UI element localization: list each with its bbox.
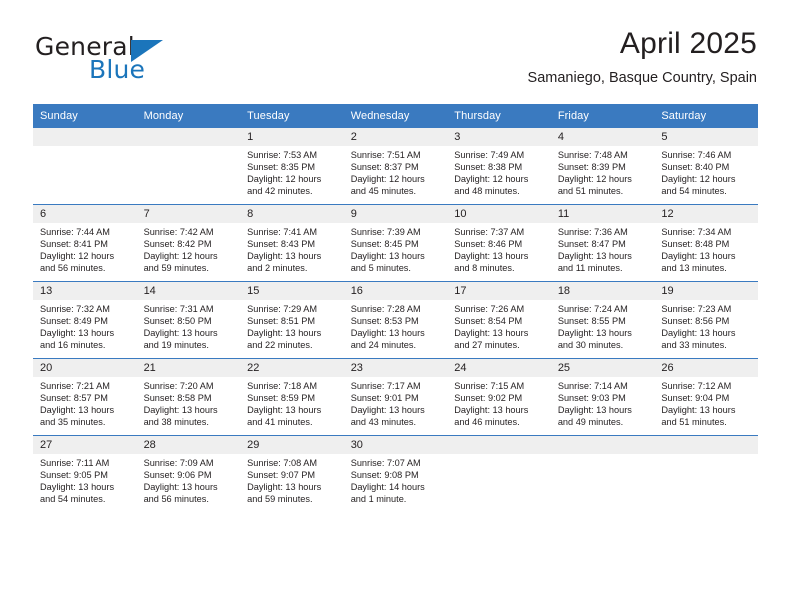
- day-cell-content: 23Sunrise: 7:17 AMSunset: 9:01 PMDayligh…: [344, 359, 448, 435]
- day-cell-content: 5Sunrise: 7:46 AMSunset: 8:40 PMDaylight…: [654, 128, 758, 204]
- sunrise-text: Sunrise: 7:36 AM: [558, 226, 650, 238]
- sunrise-text: Sunrise: 7:08 AM: [247, 457, 339, 469]
- weekday-header-saturday: Saturday: [654, 104, 758, 128]
- sunset-text: Sunset: 9:06 PM: [144, 469, 236, 481]
- sunset-text: Sunset: 8:55 PM: [558, 315, 650, 327]
- sunrise-text: Sunrise: 7:31 AM: [144, 303, 236, 315]
- day-cell-content: 21Sunrise: 7:20 AMSunset: 8:58 PMDayligh…: [137, 359, 241, 435]
- day-cell-content: 15Sunrise: 7:29 AMSunset: 8:51 PMDayligh…: [240, 282, 344, 358]
- day-number: 24: [447, 359, 551, 377]
- day-details: Sunrise: 7:11 AMSunset: 9:05 PMDaylight:…: [33, 454, 137, 505]
- sunset-text: Sunset: 9:07 PM: [247, 469, 339, 481]
- calendar-day-cell[interactable]: 21Sunrise: 7:20 AMSunset: 8:58 PMDayligh…: [137, 359, 241, 436]
- day-cell-content: 27Sunrise: 7:11 AMSunset: 9:05 PMDayligh…: [33, 436, 137, 512]
- sunrise-text: Sunrise: 7:49 AM: [454, 149, 546, 161]
- sunset-text: Sunset: 9:05 PM: [40, 469, 132, 481]
- calendar-body: 1Sunrise: 7:53 AMSunset: 8:35 PMDaylight…: [33, 128, 758, 513]
- sunrise-text: Sunrise: 7:18 AM: [247, 380, 339, 392]
- day-details: Sunrise: 7:17 AMSunset: 9:01 PMDaylight:…: [344, 377, 448, 428]
- daylight-text-line1: Daylight: 12 hours: [661, 173, 753, 185]
- day-number: 1: [240, 128, 344, 146]
- calendar-day-cell[interactable]: 7Sunrise: 7:42 AMSunset: 8:42 PMDaylight…: [137, 205, 241, 282]
- daylight-text-line1: Daylight: 12 hours: [247, 173, 339, 185]
- daylight-text-line1: Daylight: 13 hours: [247, 327, 339, 339]
- calendar-empty-cell: [137, 128, 241, 205]
- sunrise-text: Sunrise: 7:29 AM: [247, 303, 339, 315]
- daylight-text-line1: Daylight: 13 hours: [558, 327, 650, 339]
- daylight-text-line1: Daylight: 13 hours: [247, 250, 339, 262]
- calendar-day-cell[interactable]: 5Sunrise: 7:46 AMSunset: 8:40 PMDaylight…: [654, 128, 758, 205]
- day-details: Sunrise: 7:32 AMSunset: 8:49 PMDaylight:…: [33, 300, 137, 351]
- sunset-text: Sunset: 8:45 PM: [351, 238, 443, 250]
- sunrise-text: Sunrise: 7:07 AM: [351, 457, 443, 469]
- calendar-header-row: Sunday Monday Tuesday Wednesday Thursday…: [33, 104, 758, 128]
- calendar-day-cell[interactable]: 12Sunrise: 7:34 AMSunset: 8:48 PMDayligh…: [654, 205, 758, 282]
- day-cell-content: 12Sunrise: 7:34 AMSunset: 8:48 PMDayligh…: [654, 205, 758, 281]
- sunrise-text: Sunrise: 7:23 AM: [661, 303, 753, 315]
- daylight-text-line1: Daylight: 14 hours: [351, 481, 443, 493]
- sunset-text: Sunset: 8:47 PM: [558, 238, 650, 250]
- day-number: 27: [33, 436, 137, 454]
- sunrise-text: Sunrise: 7:42 AM: [144, 226, 236, 238]
- sunset-text: Sunset: 8:42 PM: [144, 238, 236, 250]
- day-cell-content: 30Sunrise: 7:07 AMSunset: 9:08 PMDayligh…: [344, 436, 448, 512]
- daylight-text-line2: and 24 minutes.: [351, 339, 443, 351]
- daylight-text-line2: and 51 minutes.: [558, 185, 650, 197]
- day-cell-content: 6Sunrise: 7:44 AMSunset: 8:41 PMDaylight…: [33, 205, 137, 281]
- calendar-day-cell[interactable]: 8Sunrise: 7:41 AMSunset: 8:43 PMDaylight…: [240, 205, 344, 282]
- daylight-text-line2: and 46 minutes.: [454, 416, 546, 428]
- day-number: 17: [447, 282, 551, 300]
- daylight-text-line1: Daylight: 13 hours: [247, 404, 339, 416]
- calendar-day-cell[interactable]: 13Sunrise: 7:32 AMSunset: 8:49 PMDayligh…: [33, 282, 137, 359]
- calendar-day-cell[interactable]: 3Sunrise: 7:49 AMSunset: 8:38 PMDaylight…: [447, 128, 551, 205]
- daylight-text-line2: and 56 minutes.: [144, 493, 236, 505]
- day-number: [137, 128, 241, 146]
- sunrise-text: Sunrise: 7:21 AM: [40, 380, 132, 392]
- day-details: Sunrise: 7:41 AMSunset: 8:43 PMDaylight:…: [240, 223, 344, 274]
- calendar-day-cell[interactable]: 26Sunrise: 7:12 AMSunset: 9:04 PMDayligh…: [654, 359, 758, 436]
- day-cell-content: 26Sunrise: 7:12 AMSunset: 9:04 PMDayligh…: [654, 359, 758, 435]
- calendar-empty-cell: [447, 436, 551, 513]
- day-cell-content: [137, 128, 241, 204]
- day-cell-content: 17Sunrise: 7:26 AMSunset: 8:54 PMDayligh…: [447, 282, 551, 358]
- day-number: 5: [654, 128, 758, 146]
- calendar-empty-cell: [33, 128, 137, 205]
- day-cell-content: 16Sunrise: 7:28 AMSunset: 8:53 PMDayligh…: [344, 282, 448, 358]
- day-details: Sunrise: 7:09 AMSunset: 9:06 PMDaylight:…: [137, 454, 241, 505]
- daylight-text-line2: and 54 minutes.: [661, 185, 753, 197]
- daylight-text-line1: Daylight: 13 hours: [661, 250, 753, 262]
- daylight-text-line2: and 43 minutes.: [351, 416, 443, 428]
- day-details: Sunrise: 7:29 AMSunset: 8:51 PMDaylight:…: [240, 300, 344, 351]
- calendar-day-cell[interactable]: 30Sunrise: 7:07 AMSunset: 9:08 PMDayligh…: [344, 436, 448, 513]
- day-number: 20: [33, 359, 137, 377]
- sunrise-text: Sunrise: 7:20 AM: [144, 380, 236, 392]
- day-cell-content: 7Sunrise: 7:42 AMSunset: 8:42 PMDaylight…: [137, 205, 241, 281]
- calendar-day-cell[interactable]: 16Sunrise: 7:28 AMSunset: 8:53 PMDayligh…: [344, 282, 448, 359]
- weekday-header-friday: Friday: [551, 104, 655, 128]
- sunset-text: Sunset: 8:54 PM: [454, 315, 546, 327]
- sunset-text: Sunset: 8:48 PM: [661, 238, 753, 250]
- day-number: 22: [240, 359, 344, 377]
- weekday-header-tuesday: Tuesday: [240, 104, 344, 128]
- sunset-text: Sunset: 8:35 PM: [247, 161, 339, 173]
- day-cell-content: 10Sunrise: 7:37 AMSunset: 8:46 PMDayligh…: [447, 205, 551, 281]
- calendar-day-cell[interactable]: 20Sunrise: 7:21 AMSunset: 8:57 PMDayligh…: [33, 359, 137, 436]
- sunrise-text: Sunrise: 7:12 AM: [661, 380, 753, 392]
- day-details: Sunrise: 7:31 AMSunset: 8:50 PMDaylight:…: [137, 300, 241, 351]
- sunset-text: Sunset: 8:40 PM: [661, 161, 753, 173]
- day-number: [551, 436, 655, 454]
- sunrise-text: Sunrise: 7:24 AM: [558, 303, 650, 315]
- daylight-text-line1: Daylight: 13 hours: [144, 404, 236, 416]
- day-cell-content: 22Sunrise: 7:18 AMSunset: 8:59 PMDayligh…: [240, 359, 344, 435]
- sunrise-text: Sunrise: 7:14 AM: [558, 380, 650, 392]
- daylight-text-line2: and 38 minutes.: [144, 416, 236, 428]
- day-details: Sunrise: 7:46 AMSunset: 8:40 PMDaylight:…: [654, 146, 758, 197]
- sunset-text: Sunset: 9:08 PM: [351, 469, 443, 481]
- daylight-text-line2: and 33 minutes.: [661, 339, 753, 351]
- daylight-text-line2: and 45 minutes.: [351, 185, 443, 197]
- daylight-text-line1: Daylight: 13 hours: [351, 404, 443, 416]
- sunrise-text: Sunrise: 7:28 AM: [351, 303, 443, 315]
- sunrise-text: Sunrise: 7:53 AM: [247, 149, 339, 161]
- day-details: Sunrise: 7:34 AMSunset: 8:48 PMDaylight:…: [654, 223, 758, 274]
- day-cell-content: 4Sunrise: 7:48 AMSunset: 8:39 PMDaylight…: [551, 128, 655, 204]
- day-cell-content: 13Sunrise: 7:32 AMSunset: 8:49 PMDayligh…: [33, 282, 137, 358]
- calendar-day-cell[interactable]: 17Sunrise: 7:26 AMSunset: 8:54 PMDayligh…: [447, 282, 551, 359]
- calendar-week-row: 1Sunrise: 7:53 AMSunset: 8:35 PMDaylight…: [33, 128, 758, 205]
- day-number: 6: [33, 205, 137, 223]
- sunset-text: Sunset: 8:38 PM: [454, 161, 546, 173]
- daylight-text-line2: and 48 minutes.: [454, 185, 546, 197]
- daylight-text-line2: and 8 minutes.: [454, 262, 546, 274]
- calendar-day-cell[interactable]: 2Sunrise: 7:51 AMSunset: 8:37 PMDaylight…: [344, 128, 448, 205]
- day-cell-content: 25Sunrise: 7:14 AMSunset: 9:03 PMDayligh…: [551, 359, 655, 435]
- day-details: Sunrise: 7:18 AMSunset: 8:59 PMDaylight:…: [240, 377, 344, 428]
- sunset-text: Sunset: 9:04 PM: [661, 392, 753, 404]
- daylight-text-line1: Daylight: 13 hours: [454, 327, 546, 339]
- calendar-page: General Blue April 2025 Samaniego, Basqu…: [0, 0, 792, 612]
- sunset-text: Sunset: 8:57 PM: [40, 392, 132, 404]
- calendar-day-cell[interactable]: 9Sunrise: 7:39 AMSunset: 8:45 PMDaylight…: [344, 205, 448, 282]
- sunset-text: Sunset: 8:46 PM: [454, 238, 546, 250]
- sunrise-text: Sunrise: 7:37 AM: [454, 226, 546, 238]
- sunset-text: Sunset: 8:50 PM: [144, 315, 236, 327]
- daylight-text-line2: and 42 minutes.: [247, 185, 339, 197]
- day-details: Sunrise: 7:51 AMSunset: 8:37 PMDaylight:…: [344, 146, 448, 197]
- day-number: 28: [137, 436, 241, 454]
- sunset-text: Sunset: 9:03 PM: [558, 392, 650, 404]
- day-details: Sunrise: 7:44 AMSunset: 8:41 PMDaylight:…: [33, 223, 137, 274]
- day-cell-content: [447, 436, 551, 512]
- weekday-header-thursday: Thursday: [447, 104, 551, 128]
- sunset-text: Sunset: 9:01 PM: [351, 392, 443, 404]
- sunrise-text: Sunrise: 7:17 AM: [351, 380, 443, 392]
- calendar-day-cell[interactable]: 22Sunrise: 7:18 AMSunset: 8:59 PMDayligh…: [240, 359, 344, 436]
- sunset-text: Sunset: 8:41 PM: [40, 238, 132, 250]
- sunrise-text: Sunrise: 7:51 AM: [351, 149, 443, 161]
- daylight-text-line1: Daylight: 13 hours: [40, 404, 132, 416]
- page-title: April 2025: [528, 26, 757, 62]
- sunrise-text: Sunrise: 7:41 AM: [247, 226, 339, 238]
- daylight-text-line2: and 13 minutes.: [661, 262, 753, 274]
- day-number: 9: [344, 205, 448, 223]
- day-number: 15: [240, 282, 344, 300]
- day-cell-content: 20Sunrise: 7:21 AMSunset: 8:57 PMDayligh…: [33, 359, 137, 435]
- daylight-text-line2: and 22 minutes.: [247, 339, 339, 351]
- sunrise-text: Sunrise: 7:46 AM: [661, 149, 753, 161]
- day-details: Sunrise: 7:08 AMSunset: 9:07 PMDaylight:…: [240, 454, 344, 505]
- daylight-text-line1: Daylight: 13 hours: [40, 327, 132, 339]
- day-number: [33, 128, 137, 146]
- weekday-header-monday: Monday: [137, 104, 241, 128]
- calendar-day-cell[interactable]: 10Sunrise: 7:37 AMSunset: 8:46 PMDayligh…: [447, 205, 551, 282]
- calendar-day-cell[interactable]: 23Sunrise: 7:17 AMSunset: 9:01 PMDayligh…: [344, 359, 448, 436]
- day-cell-content: 3Sunrise: 7:49 AMSunset: 8:38 PMDaylight…: [447, 128, 551, 204]
- calendar-week-row: 13Sunrise: 7:32 AMSunset: 8:49 PMDayligh…: [33, 282, 758, 359]
- calendar-week-row: 27Sunrise: 7:11 AMSunset: 9:05 PMDayligh…: [33, 436, 758, 513]
- daylight-text-line1: Daylight: 12 hours: [351, 173, 443, 185]
- calendar-day-cell[interactable]: 27Sunrise: 7:11 AMSunset: 9:05 PMDayligh…: [33, 436, 137, 513]
- day-details: Sunrise: 7:20 AMSunset: 8:58 PMDaylight:…: [137, 377, 241, 428]
- day-number: 23: [344, 359, 448, 377]
- day-details: Sunrise: 7:15 AMSunset: 9:02 PMDaylight:…: [447, 377, 551, 428]
- daylight-text-line1: Daylight: 13 hours: [454, 250, 546, 262]
- calendar-week-row: 6Sunrise: 7:44 AMSunset: 8:41 PMDaylight…: [33, 205, 758, 282]
- calendar-day-cell[interactable]: 19Sunrise: 7:23 AMSunset: 8:56 PMDayligh…: [654, 282, 758, 359]
- calendar-day-cell[interactable]: 25Sunrise: 7:14 AMSunset: 9:03 PMDayligh…: [551, 359, 655, 436]
- day-details: Sunrise: 7:07 AMSunset: 9:08 PMDaylight:…: [344, 454, 448, 505]
- day-cell-content: 19Sunrise: 7:23 AMSunset: 8:56 PMDayligh…: [654, 282, 758, 358]
- daylight-text-line1: Daylight: 12 hours: [558, 173, 650, 185]
- daylight-text-line2: and 11 minutes.: [558, 262, 650, 274]
- day-number: [654, 436, 758, 454]
- day-number: 10: [447, 205, 551, 223]
- daylight-text-line1: Daylight: 13 hours: [558, 250, 650, 262]
- day-cell-content: 8Sunrise: 7:41 AMSunset: 8:43 PMDaylight…: [240, 205, 344, 281]
- day-details: Sunrise: 7:24 AMSunset: 8:55 PMDaylight:…: [551, 300, 655, 351]
- daylight-text-line2: and 35 minutes.: [40, 416, 132, 428]
- daylight-text-line2: and 2 minutes.: [247, 262, 339, 274]
- calendar-day-cell[interactable]: 6Sunrise: 7:44 AMSunset: 8:41 PMDaylight…: [33, 205, 137, 282]
- daylight-text-line2: and 16 minutes.: [40, 339, 132, 351]
- sunrise-text: Sunrise: 7:48 AM: [558, 149, 650, 161]
- day-details: Sunrise: 7:28 AMSunset: 8:53 PMDaylight:…: [344, 300, 448, 351]
- day-number: 25: [551, 359, 655, 377]
- daylight-text-line2: and 19 minutes.: [144, 339, 236, 351]
- logo-text-blue: Blue: [89, 55, 145, 84]
- day-number: 29: [240, 436, 344, 454]
- calendar-week-row: 20Sunrise: 7:21 AMSunset: 8:57 PMDayligh…: [33, 359, 758, 436]
- day-details: Sunrise: 7:37 AMSunset: 8:46 PMDaylight:…: [447, 223, 551, 274]
- sunset-text: Sunset: 8:59 PM: [247, 392, 339, 404]
- sunset-text: Sunset: 8:39 PM: [558, 161, 650, 173]
- day-details: Sunrise: 7:42 AMSunset: 8:42 PMDaylight:…: [137, 223, 241, 274]
- daylight-text-line2: and 1 minute.: [351, 493, 443, 505]
- daylight-text-line2: and 56 minutes.: [40, 262, 132, 274]
- day-number: 4: [551, 128, 655, 146]
- weekday-header-wednesday: Wednesday: [344, 104, 448, 128]
- daylight-text-line1: Daylight: 13 hours: [454, 404, 546, 416]
- daylight-text-line2: and 41 minutes.: [247, 416, 339, 428]
- sunrise-text: Sunrise: 7:32 AM: [40, 303, 132, 315]
- day-number: 21: [137, 359, 241, 377]
- day-cell-content: 11Sunrise: 7:36 AMSunset: 8:47 PMDayligh…: [551, 205, 655, 281]
- day-details: Sunrise: 7:53 AMSunset: 8:35 PMDaylight:…: [240, 146, 344, 197]
- daylight-text-line1: Daylight: 13 hours: [351, 250, 443, 262]
- daylight-text-line1: Daylight: 13 hours: [247, 481, 339, 493]
- day-cell-content: [654, 436, 758, 512]
- sunset-text: Sunset: 8:58 PM: [144, 392, 236, 404]
- day-cell-content: 2Sunrise: 7:51 AMSunset: 8:37 PMDaylight…: [344, 128, 448, 204]
- daylight-text-line1: Daylight: 13 hours: [40, 481, 132, 493]
- day-number: [447, 436, 551, 454]
- day-details: Sunrise: 7:26 AMSunset: 8:54 PMDaylight:…: [447, 300, 551, 351]
- sunrise-text: Sunrise: 7:44 AM: [40, 226, 132, 238]
- sunrise-text: Sunrise: 7:11 AM: [40, 457, 132, 469]
- daylight-text-line1: Daylight: 12 hours: [144, 250, 236, 262]
- day-cell-content: 9Sunrise: 7:39 AMSunset: 8:45 PMDaylight…: [344, 205, 448, 281]
- day-number: 8: [240, 205, 344, 223]
- generalblue-logo[interactable]: General Blue: [35, 32, 245, 90]
- day-number: 16: [344, 282, 448, 300]
- sunrise-text: Sunrise: 7:39 AM: [351, 226, 443, 238]
- calendar-grid: Sunday Monday Tuesday Wednesday Thursday…: [33, 104, 758, 512]
- calendar-day-cell[interactable]: 18Sunrise: 7:24 AMSunset: 8:55 PMDayligh…: [551, 282, 655, 359]
- sunset-text: Sunset: 8:56 PM: [661, 315, 753, 327]
- calendar-day-cell[interactable]: 24Sunrise: 7:15 AMSunset: 9:02 PMDayligh…: [447, 359, 551, 436]
- day-number: 2: [344, 128, 448, 146]
- daylight-text-line1: Daylight: 12 hours: [40, 250, 132, 262]
- daylight-text-line1: Daylight: 12 hours: [454, 173, 546, 185]
- sunset-text: Sunset: 8:53 PM: [351, 315, 443, 327]
- calendar-day-cell[interactable]: 28Sunrise: 7:09 AMSunset: 9:06 PMDayligh…: [137, 436, 241, 513]
- calendar-day-cell[interactable]: 15Sunrise: 7:29 AMSunset: 8:51 PMDayligh…: [240, 282, 344, 359]
- calendar-empty-cell: [551, 436, 655, 513]
- day-details: Sunrise: 7:49 AMSunset: 8:38 PMDaylight:…: [447, 146, 551, 197]
- daylight-text-line1: Daylight: 13 hours: [144, 327, 236, 339]
- daylight-text-line2: and 59 minutes.: [144, 262, 236, 274]
- day-details: Sunrise: 7:21 AMSunset: 8:57 PMDaylight:…: [33, 377, 137, 428]
- sunset-text: Sunset: 9:02 PM: [454, 392, 546, 404]
- day-number: 13: [33, 282, 137, 300]
- day-details: Sunrise: 7:14 AMSunset: 9:03 PMDaylight:…: [551, 377, 655, 428]
- daylight-text-line2: and 5 minutes.: [351, 262, 443, 274]
- day-details: Sunrise: 7:23 AMSunset: 8:56 PMDaylight:…: [654, 300, 758, 351]
- day-cell-content: 18Sunrise: 7:24 AMSunset: 8:55 PMDayligh…: [551, 282, 655, 358]
- daylight-text-line1: Daylight: 13 hours: [558, 404, 650, 416]
- day-cell-content: [33, 128, 137, 204]
- day-number: 7: [137, 205, 241, 223]
- day-cell-content: 1Sunrise: 7:53 AMSunset: 8:35 PMDaylight…: [240, 128, 344, 204]
- daylight-text-line2: and 51 minutes.: [661, 416, 753, 428]
- day-number: 14: [137, 282, 241, 300]
- day-number: 11: [551, 205, 655, 223]
- daylight-text-line1: Daylight: 13 hours: [661, 327, 753, 339]
- daylight-text-line1: Daylight: 13 hours: [351, 327, 443, 339]
- daylight-text-line2: and 59 minutes.: [247, 493, 339, 505]
- calendar-day-cell[interactable]: 11Sunrise: 7:36 AMSunset: 8:47 PMDayligh…: [551, 205, 655, 282]
- day-number: 19: [654, 282, 758, 300]
- weekday-header-sunday: Sunday: [33, 104, 137, 128]
- daylight-text-line1: Daylight: 13 hours: [661, 404, 753, 416]
- day-number: 26: [654, 359, 758, 377]
- calendar-day-cell[interactable]: 14Sunrise: 7:31 AMSunset: 8:50 PMDayligh…: [137, 282, 241, 359]
- daylight-text-line2: and 27 minutes.: [454, 339, 546, 351]
- sunset-text: Sunset: 8:43 PM: [247, 238, 339, 250]
- daylight-text-line2: and 30 minutes.: [558, 339, 650, 351]
- day-number: 12: [654, 205, 758, 223]
- day-cell-content: 14Sunrise: 7:31 AMSunset: 8:50 PMDayligh…: [137, 282, 241, 358]
- day-details: Sunrise: 7:48 AMSunset: 8:39 PMDaylight:…: [551, 146, 655, 197]
- day-cell-content: 29Sunrise: 7:08 AMSunset: 9:07 PMDayligh…: [240, 436, 344, 512]
- sunset-text: Sunset: 8:37 PM: [351, 161, 443, 173]
- daylight-text-line2: and 49 minutes.: [558, 416, 650, 428]
- page-header: General Blue April 2025 Samaniego, Basqu…: [35, 26, 757, 98]
- calendar-day-cell[interactable]: 4Sunrise: 7:48 AMSunset: 8:39 PMDaylight…: [551, 128, 655, 205]
- sunrise-text: Sunrise: 7:34 AM: [661, 226, 753, 238]
- sunset-text: Sunset: 8:51 PM: [247, 315, 339, 327]
- sunset-text: Sunset: 8:49 PM: [40, 315, 132, 327]
- day-number: 30: [344, 436, 448, 454]
- page-subtitle: Samaniego, Basque Country, Spain: [528, 69, 757, 87]
- calendar-day-cell[interactable]: 29Sunrise: 7:08 AMSunset: 9:07 PMDayligh…: [240, 436, 344, 513]
- title-block: April 2025 Samaniego, Basque Country, Sp…: [528, 26, 757, 87]
- calendar-empty-cell: [654, 436, 758, 513]
- calendar-day-cell[interactable]: 1Sunrise: 7:53 AMSunset: 8:35 PMDaylight…: [240, 128, 344, 205]
- daylight-text-line1: Daylight: 13 hours: [144, 481, 236, 493]
- day-details: Sunrise: 7:36 AMSunset: 8:47 PMDaylight:…: [551, 223, 655, 274]
- day-details: Sunrise: 7:39 AMSunset: 8:45 PMDaylight:…: [344, 223, 448, 274]
- sunrise-text: Sunrise: 7:09 AM: [144, 457, 236, 469]
- daylight-text-line2: and 54 minutes.: [40, 493, 132, 505]
- day-number: 18: [551, 282, 655, 300]
- sunrise-text: Sunrise: 7:26 AM: [454, 303, 546, 315]
- sunrise-text: Sunrise: 7:15 AM: [454, 380, 546, 392]
- day-cell-content: [551, 436, 655, 512]
- day-number: 3: [447, 128, 551, 146]
- day-details: Sunrise: 7:12 AMSunset: 9:04 PMDaylight:…: [654, 377, 758, 428]
- day-cell-content: 24Sunrise: 7:15 AMSunset: 9:02 PMDayligh…: [447, 359, 551, 435]
- day-cell-content: 28Sunrise: 7:09 AMSunset: 9:06 PMDayligh…: [137, 436, 241, 512]
